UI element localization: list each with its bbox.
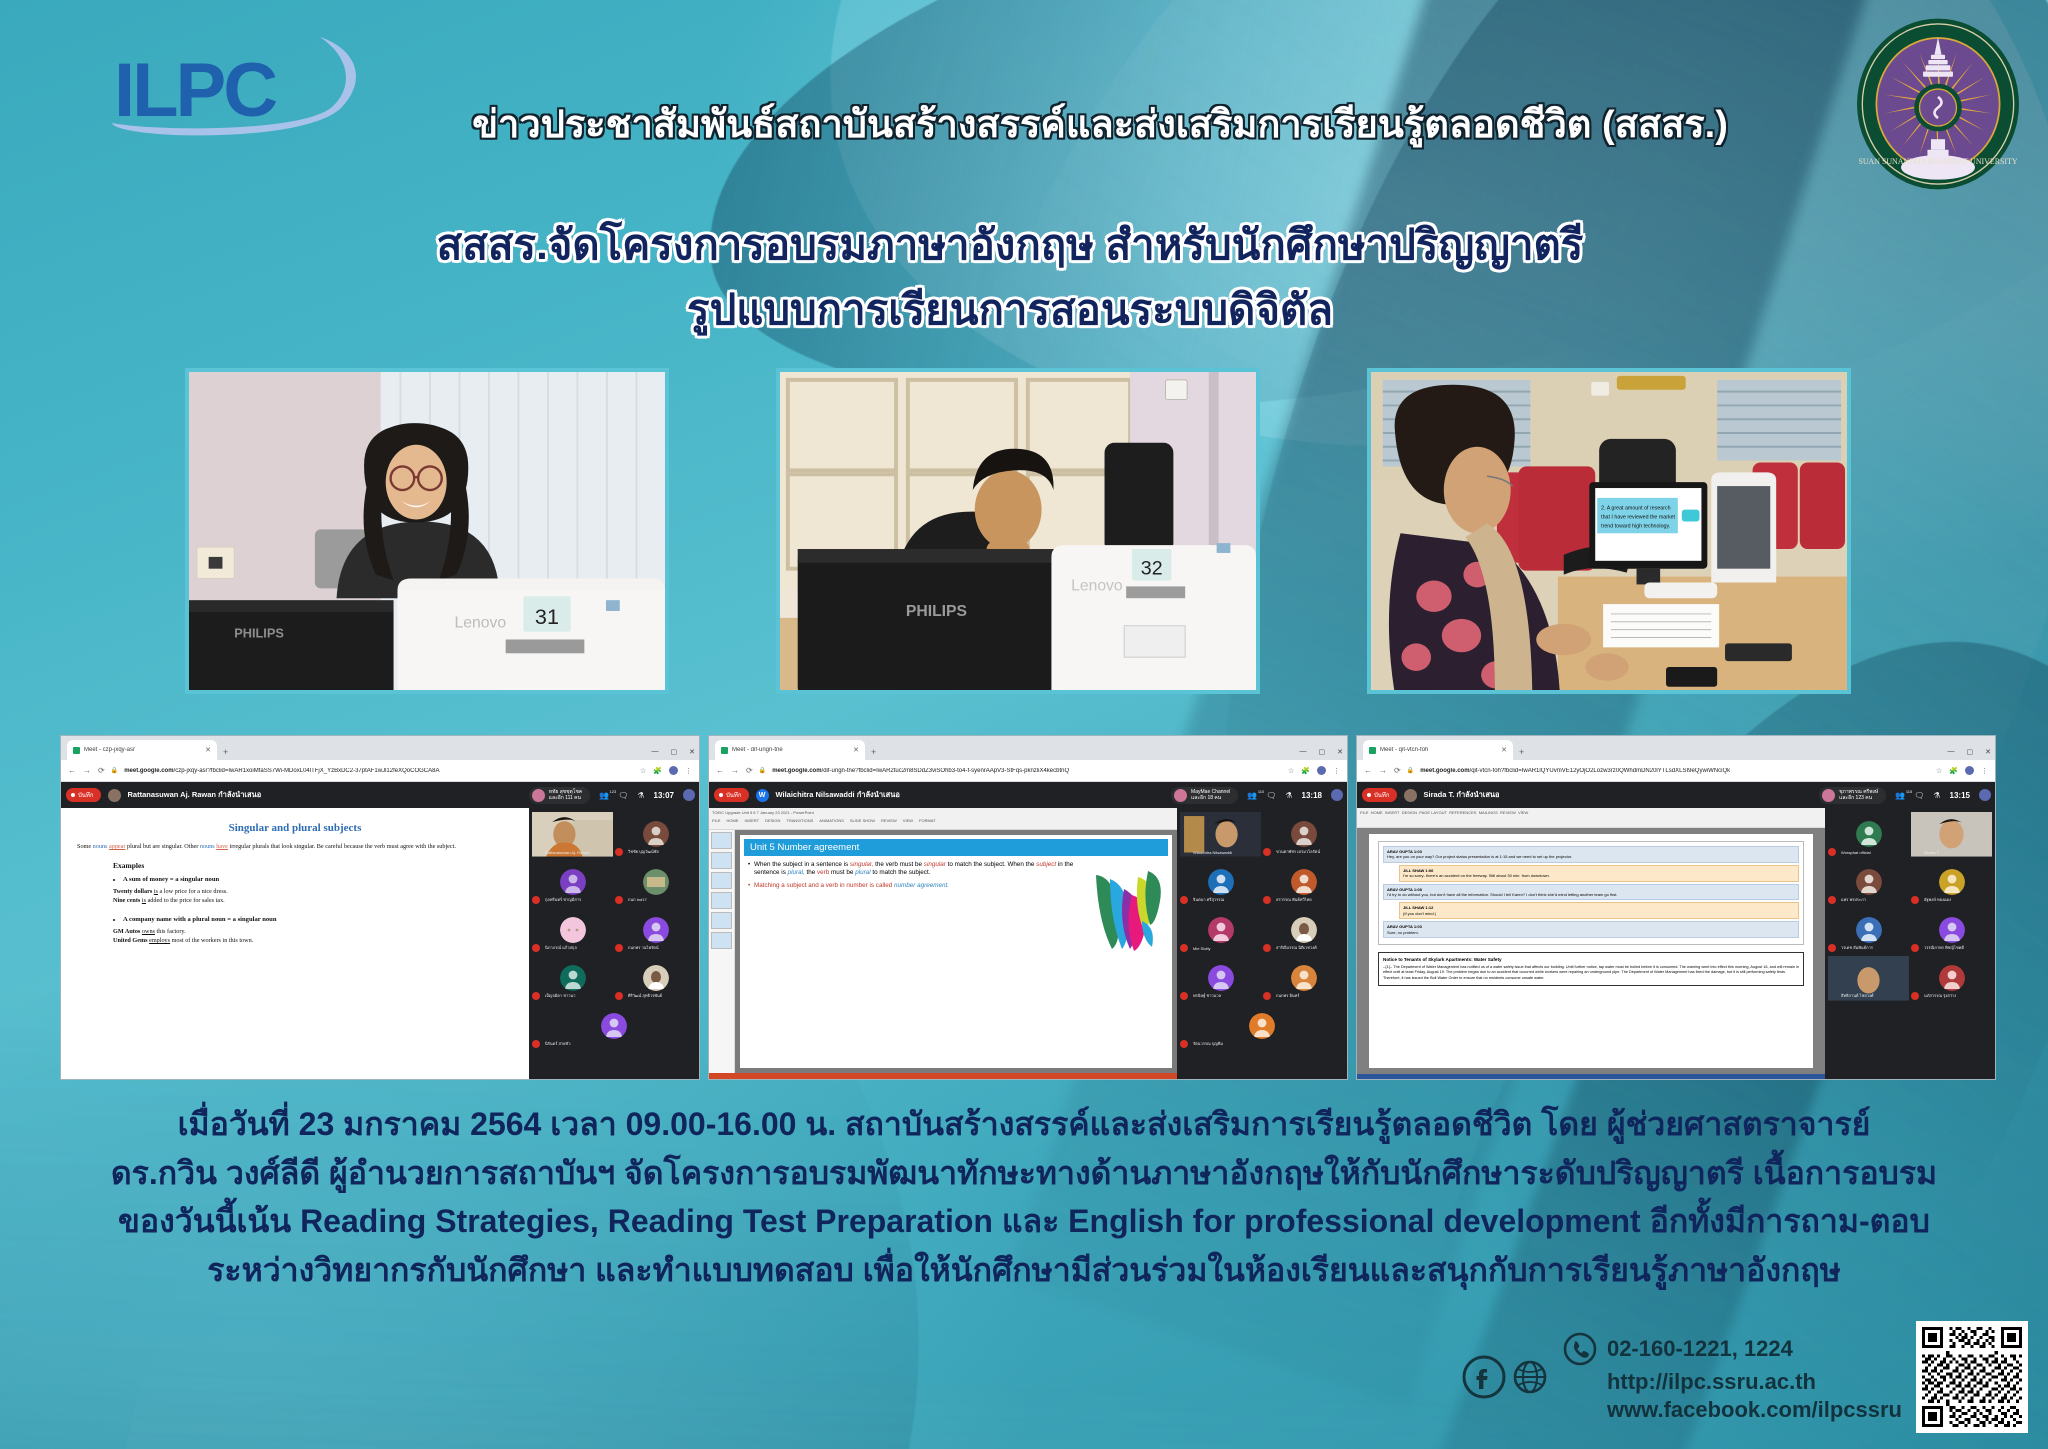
example-bullet: A sum of money = a singular noun	[123, 876, 513, 883]
avatar	[1856, 869, 1882, 895]
user-avatar[interactable]	[683, 789, 695, 801]
avatar	[1939, 869, 1965, 895]
slide-thumbnail[interactable]	[711, 912, 732, 929]
example-bullet: A company name with a plural noun = a si…	[123, 916, 513, 923]
participant-tile[interactable]: สิทธิกานต์ ไชยวงศ์	[1828, 956, 1909, 1000]
close-icon[interactable]: ✕	[205, 746, 211, 754]
participant-tile[interactable]: กนกพร วนไพรัตน์	[615, 908, 696, 952]
mic-off-icon	[615, 992, 623, 1000]
participant-tiles: Woraphat official Sirada T. แพร พรประภา	[1825, 808, 1995, 1080]
meet-clock: 13:07	[654, 791, 674, 800]
chat-bubble: ARAV GUPTA 1:03 Sure, no problem.	[1383, 921, 1799, 938]
mic-off-icon	[615, 896, 623, 904]
slide-canvas: Unit 5 Number agreement When the subject…	[735, 830, 1177, 1073]
people-icon[interactable]: 👥123	[599, 791, 609, 800]
participant-tile[interactable]: Mie Slotty	[1180, 908, 1261, 952]
participant-name: นภัสวรรณ รุ่งสว่าง	[1924, 992, 1991, 999]
avatar	[1856, 917, 1882, 943]
chat-author: ARAV GUPTA 1:03	[1387, 924, 1795, 929]
participant-tile[interactable]: Woraphat official	[1828, 812, 1909, 856]
extension-icon[interactable]: 🧩	[653, 767, 662, 775]
mic-off-icon	[1263, 848, 1271, 856]
user-avatar[interactable]	[1331, 789, 1343, 801]
phone-icon	[1562, 1331, 1598, 1367]
tab-view[interactable]: VIEW	[903, 818, 913, 823]
photo-instructor-meeting-room: 2. A great amount of research that I hav…	[1367, 368, 1851, 694]
participant-tile[interactable]: Sirada T.	[1911, 812, 1992, 856]
avatar	[1208, 869, 1234, 895]
presentation-stage: Singular and plural subjects Some nouns …	[61, 808, 529, 1080]
presenter-avatar	[108, 789, 121, 802]
tab-format[interactable]: FORMAT	[919, 818, 936, 823]
mic-off-icon	[1180, 896, 1188, 904]
minimize-icon[interactable]: —	[1948, 748, 1955, 756]
avatar	[643, 917, 669, 943]
participant-tile[interactable]: Wilaichitra Nilsawaddi	[1180, 812, 1261, 856]
photo-gallery: PHILIPS Lenovo 31	[0, 368, 2048, 696]
minimize-icon[interactable]: —	[652, 748, 659, 756]
window-controls[interactable]: — ▢ ✕	[1300, 748, 1344, 756]
presenter-name: Wilaichitra Nilsawaddi กำลังนำเสนอ	[776, 789, 900, 801]
participant-tile[interactable]: ศิริวัฒน์ สุทธิวรพันธ์	[615, 956, 696, 1000]
svg-text:PHILIPS: PHILIPS	[906, 603, 967, 620]
seal-text-en: SUAN SUNANDHA RAJABHAT UNIVERSITY	[1858, 157, 2017, 166]
photo-2-station-number: 32	[1141, 558, 1163, 580]
people-icon[interactable]: 👥110	[1247, 791, 1257, 800]
menu-icon[interactable]: ⋮	[685, 767, 692, 775]
browser-address-bar[interactable]: ← → ⟳ 🔒 meet.google.com/dif-ungn-tne?fbc…	[709, 760, 1347, 782]
participant-tile[interactable]: สรวรรณ พันธ์ทวีไทย	[1263, 860, 1344, 904]
tab-file[interactable]: FILE	[712, 818, 720, 823]
tab-design[interactable]: DESIGN	[765, 818, 780, 823]
body-line-1: เมื่อวันที่ 23 มกราคม 2564 เวลา 09.00-16…	[62, 1100, 1986, 1149]
forward-icon[interactable]: →	[1379, 766, 1387, 775]
meet-clock: 13:18	[1302, 791, 1322, 800]
nav-icons[interactable]: ← → ⟳	[68, 766, 105, 775]
photo-1-station-number: 31	[535, 604, 559, 629]
ilpc-logo: ILPC	[106, 35, 376, 140]
participant-name: อัฐพงษ์ ทองแดง	[1924, 896, 1991, 903]
lock-icon: 🔒	[111, 767, 118, 774]
avatar	[1249, 1013, 1275, 1039]
word-window: FILE HOME INSERT DESIGN PAGE LAYOUT REFE…	[1357, 808, 1825, 1080]
tab-transitions[interactable]: TRANSITIONS	[786, 818, 813, 823]
photo-student-red-shirt: PHILIPS Lenovo 32	[776, 368, 1260, 694]
svg-text:trend toward high technology.: trend toward high technology.	[1601, 523, 1670, 529]
participant-name: นิรันดร์ สายชัว	[545, 1040, 695, 1047]
avatar	[1291, 869, 1317, 895]
word-ribbon[interactable]: FILE HOME INSERT DESIGN PAGE LAYOUT REFE…	[1357, 808, 1825, 828]
facebook-icon[interactable]	[1462, 1355, 1506, 1399]
notice-body: --[1]-- The Department of Water Manageme…	[1383, 965, 1799, 982]
tab-review[interactable]: REVIEW	[881, 818, 897, 823]
contact-lines: 02-160-1221, 1224 http://ilpc.ssru.ac.th…	[1562, 1331, 1902, 1423]
participant-name: Mie Slotty	[1193, 946, 1260, 951]
channel-count: และอีก 111 คน	[549, 795, 581, 801]
participant-name: นิภาภรณ์ แก้วสกุล	[545, 944, 612, 951]
participant-tile[interactable]: วรเดช สัมพันธ์การ	[1828, 908, 1909, 952]
bookmark-star-icon[interactable]: ☆	[1288, 767, 1294, 775]
mic-off-icon	[532, 1040, 540, 1048]
browser-tab-bar: Meet - czp-jxqy-asr ✕ + — ▢ ✕	[61, 736, 699, 760]
close-window-icon[interactable]: ✕	[689, 748, 695, 756]
maximize-icon[interactable]: ▢	[671, 748, 678, 756]
participant-name: กนก tnd17	[628, 896, 695, 903]
avatar	[643, 869, 669, 895]
url-text[interactable]: meet.google.com/dif-ungn-tne?fbclid=IwAR…	[772, 768, 1282, 774]
slide-intro: Some nouns appear plural but are singula…	[77, 843, 513, 852]
tab-insert[interactable]: INSERT	[744, 818, 759, 823]
mic-off-icon	[1180, 944, 1188, 952]
powerpoint-window: TOEIC Upgrade Unit 5 6 7 January 23 2021…	[709, 808, 1177, 1080]
participant-tile[interactable]: กนก tnd17	[615, 860, 696, 904]
nav-icons[interactable]: ← → ⟳	[716, 766, 753, 775]
slide-thumbnail[interactable]	[711, 892, 732, 909]
participant-name: วิชชัย บุญวัฒน์ชัย	[628, 848, 695, 855]
nav-icons[interactable]: ← → ⟳	[1364, 766, 1401, 775]
mic-off-icon	[615, 848, 623, 856]
ribbon-tabs[interactable]: FILE HOME INSERT DESIGN TRANSITIONS ANIM…	[712, 818, 1174, 823]
meet-screenshot-singular-plural: Meet - czp-jxqy-asr ✕ + — ▢ ✕ ← → ⟳ 🔒 me…	[60, 735, 700, 1080]
mic-off-icon	[615, 944, 623, 952]
body-line-3: ของวันนี้เน้น Reading Strategies, Readin…	[62, 1197, 1986, 1246]
participant-tile[interactable]: กนกพร อินทร์	[1263, 956, 1344, 1000]
participant-tile[interactable]: แพร พรประภา	[1828, 860, 1909, 904]
meet-top-bar: บันทึก Sirada T. กำลังนำเสนอ ชุภาพรรณ ศร…	[1357, 782, 1995, 808]
participant-tile[interactable]: นภัสวรรณ รุ่งสว่าง	[1911, 956, 1992, 1000]
meet-bar-right: ชุภาพรรณ ศรีพงษ์ และอีก 123 คน 👥115 🗨 ⚗ …	[1819, 787, 1991, 804]
participant-tile[interactable]: จินตนา ศรีสุวรรณ	[1180, 860, 1261, 904]
reload-icon[interactable]: ⟳	[98, 766, 105, 775]
avatar	[1939, 917, 1965, 943]
participant-count: 115	[1906, 789, 1912, 794]
bookmark-star-icon[interactable]: ☆	[1936, 767, 1942, 775]
channel-avatar	[1174, 789, 1187, 802]
recording-badge[interactable]: บันทึก	[714, 788, 749, 802]
channel-chip[interactable]: หทัย สุขชุตุโชค และอีก 111 คน	[529, 787, 590, 804]
participant-name: กนกพร อินทร์	[1276, 992, 1343, 999]
tab-title: Meet - czp-jxqy-asr	[84, 747, 201, 753]
channel-text: MayMae Channel และอีก 18 คน	[1191, 789, 1230, 802]
chat-text: Hey, are you on your way? Our project st…	[1387, 854, 1572, 859]
forward-icon[interactable]: →	[731, 766, 739, 775]
qr-code-image	[1922, 1327, 2022, 1427]
participant-tile[interactable]: เบ็ญจมิตา ชาวนา	[532, 956, 613, 1000]
facebook-url[interactable]: www.facebook.com/ilpcssru	[1607, 1397, 1902, 1423]
people-icon[interactable]: 👥115	[1895, 791, 1905, 800]
mic-off-icon	[1180, 992, 1188, 1000]
browser-address-bar[interactable]: ← → ⟳ 🔒 meet.google.com/qit-vtcn-foh?fbc…	[1357, 760, 1995, 782]
avatar	[1208, 965, 1234, 991]
powerpoint-main: Unit 5 Number agreement When the subject…	[709, 830, 1177, 1073]
avatar	[1939, 965, 1965, 991]
lock-icon: 🔒	[1407, 767, 1414, 774]
participant-tile[interactable]: วิชชัย บุญวัฒน์ชัย	[615, 812, 696, 856]
mic-off-icon	[1828, 896, 1836, 904]
phone-number: 02-160-1221, 1224	[1607, 1336, 1793, 1362]
channel-text: ชุภาพรรณ ศรีพงษ์ และอีก 123 คน	[1839, 789, 1878, 802]
channel-chip[interactable]: ชุภาพรรณ ศรีพงษ์ และอีก 123 คน	[1819, 787, 1886, 804]
browser-tab[interactable]: Meet - qit-vtcn-foh ✕	[1363, 740, 1513, 760]
browser-tab-bar: Meet - qit-vtcn-foh ✕ + — ▢ ✕	[1357, 736, 1995, 760]
body-paragraph: เมื่อวันที่ 23 มกราคม 2564 เวลา 09.00-16…	[62, 1100, 1986, 1295]
record-label: บันทึก	[1374, 790, 1390, 800]
maximize-icon[interactable]: ▢	[1319, 748, 1326, 756]
meet-top-bar: บันทึก W Wilaichitra Nilsawaddi กำลังนำเ…	[709, 782, 1347, 808]
subtitle-line-1: สสสร.จัดโครงการอบรมภาษาอังกฤษ สำหรับนักศ…	[230, 218, 1790, 273]
url-text[interactable]: meet.google.com/czp-jxqy-asr?fbclid=IwAR…	[124, 768, 634, 774]
participant-tile[interactable]: ขวนตาพัชร เปรมวไลรัตน์	[1263, 812, 1344, 856]
slide-thumbnail[interactable]	[711, 852, 732, 869]
globe-icon	[1512, 1359, 1548, 1395]
examples-list-2: A company name with a plural noun = a si…	[123, 916, 513, 923]
activities-icon[interactable]: ⚗	[1933, 791, 1940, 800]
channel-avatar	[532, 789, 545, 802]
participant-tiles: Wilaichitra Nilsawaddi ขวนตาพัชร เปรมวไล…	[1177, 808, 1347, 1080]
browser-address-bar[interactable]: ← → ⟳ 🔒 meet.google.com/czp-jxqy-asr?fbc…	[61, 760, 699, 782]
tab-title: Meet - qit-vtcn-foh	[1380, 747, 1497, 753]
new-tab-button[interactable]: +	[1519, 747, 1524, 760]
participant-tile[interactable]: สาริณีบรรณ นิติเวชวงศ์	[1263, 908, 1344, 952]
slide-title: Singular and plural subjects	[77, 822, 513, 834]
reload-icon[interactable]: ⟳	[1394, 766, 1401, 775]
slide-title: Unit 5 Number agreement	[744, 839, 1168, 856]
photo-3-image: 2. A great amount of research that I hav…	[1371, 372, 1847, 693]
browser-tab[interactable]: Meet - czp-jxqy-asr ✕	[67, 740, 217, 760]
colorful-ribbons-icon	[1084, 861, 1168, 951]
phone-line: 02-160-1221, 1224	[1562, 1331, 1902, 1367]
close-icon[interactable]: ✕	[1501, 746, 1507, 754]
presentation-stage: TOEIC Upgrade Unit 5 6 7 January 23 2021…	[709, 808, 1177, 1080]
participant-tile[interactable]: พรนิษฐ์ ชาวนวล	[1180, 956, 1261, 1000]
mic-off-icon	[1263, 944, 1271, 952]
meet-screenshot-gallery: Meet - czp-jxqy-asr ✕ + — ▢ ✕ ← → ⟳ 🔒 me…	[0, 735, 2048, 1083]
bookmark-star-icon[interactable]: ☆	[640, 767, 646, 775]
slide-bullets: When the subject in a sentence is singul…	[744, 861, 1084, 953]
slide-bullet-2: Matching a subject and a verb in number …	[748, 882, 1084, 890]
participant-tile[interactable]: Rattanasuwan Aj. Rawan	[532, 812, 613, 856]
participant-name: ศิริวัฒน์ สุทธิวรพันธ์	[628, 992, 695, 999]
close-icon[interactable]: ✕	[853, 746, 859, 754]
channel-chip[interactable]: MayMae Channel และอีก 18 คน	[1171, 787, 1238, 804]
browser-tab[interactable]: Meet - dif-ungn-tne ✕	[715, 740, 865, 760]
chat-text: I'd try to do without you, but don't hav…	[1387, 892, 1618, 897]
participant-tile[interactable]: นิรันดร์ สายชัว	[532, 1004, 696, 1048]
body-line-4: ระหว่างวิทยากรกับนักศึกษา และทำแบบทดสอบ …	[62, 1246, 1986, 1295]
participant-count: 110	[1258, 789, 1264, 794]
current-slide: Unit 5 Number agreement When the subject…	[740, 835, 1172, 1068]
menu-icon[interactable]: ⋮	[1333, 767, 1340, 775]
notice-title: Notice to Tenants of Skylark Apartments:…	[1383, 957, 1799, 962]
channel-name: MayMae Channel	[1191, 789, 1230, 795]
chat-bubble: JILL SHAW 1:06 I'm so sorry- there's an …	[1399, 865, 1799, 882]
body-line-2: ดร.กวิน วงศ์ลีดี ผู้อำนวยการสถาบันฯ จัดโ…	[62, 1149, 1986, 1198]
activities-icon[interactable]: ⚗	[637, 791, 644, 800]
meet-screenshot-water-safety: Meet - qit-vtcn-foh ✕ + — ▢ ✕ ← → ⟳ 🔒 me…	[1356, 735, 1996, 1080]
participant-count: 123	[610, 789, 617, 794]
svg-text:that I have reviewed the marke: that I have reviewed the market	[1601, 515, 1675, 521]
record-label: บันทึก	[78, 790, 94, 800]
chat-bubble: ARAV GUPTA 1:08 I'd try to do without yo…	[1383, 884, 1799, 901]
omnibar-actions[interactable]: ☆ 🧩 ⋮	[640, 766, 692, 775]
profile-avatar[interactable]	[1965, 766, 1974, 775]
photo-instructor-at-desktop: PHILIPS Lenovo 31	[185, 368, 669, 694]
meet-favicon-icon	[721, 747, 728, 754]
mic-off-icon	[1911, 992, 1919, 1000]
avatar	[1291, 821, 1317, 847]
slide-thumbnail[interactable]	[711, 872, 732, 889]
participant-name: แพร พรประภา	[1841, 896, 1908, 903]
participant-tile[interactable]: กุลพรินทร์ ชาญมีสาร	[532, 860, 613, 904]
tab-home[interactable]: HOME	[726, 818, 738, 823]
tab-slideshow[interactable]: SLIDE SHOW	[850, 818, 875, 823]
close-window-icon[interactable]: ✕	[1337, 748, 1343, 756]
participant-name: วรเดช สัมพันธ์การ	[1841, 944, 1908, 951]
browser-tab-bar: Meet - dif-ungn-tne ✕ + — ▢ ✕	[709, 736, 1347, 760]
website-url[interactable]: http://ilpc.ssru.ac.th	[1607, 1369, 1816, 1395]
participant-name: พรนิษฐ์ ชาวนวล	[1193, 992, 1260, 999]
slide-thumbnail[interactable]	[711, 932, 732, 949]
forward-icon[interactable]: →	[83, 766, 91, 775]
chat-bubble: JILL SHAW 1:12 (If you don't mind.)	[1399, 902, 1799, 919]
window-controls[interactable]: — ▢ ✕	[652, 748, 696, 756]
slide-thumbnail[interactable]	[711, 832, 732, 849]
facebook-line[interactable]: www.facebook.com/ilpcssru	[1562, 1397, 1902, 1423]
reload-icon[interactable]: ⟳	[746, 766, 753, 775]
chat-text: I'm so sorry- there's an accident on the…	[1403, 873, 1550, 878]
meet-body: TOEIC Upgrade Unit 5 6 7 January 23 2021…	[709, 808, 1347, 1080]
omnibar-actions[interactable]: ☆ 🧩 ⋮	[1288, 766, 1340, 775]
chat-text: (If you don't mind.)	[1403, 911, 1436, 916]
document-page: ARAV GUPTA 1:03 Hey, are you on your way…	[1369, 834, 1813, 1068]
meet-body: Singular and plural subjects Some nouns …	[61, 808, 699, 1080]
recording-badge[interactable]: บันทึก	[66, 788, 101, 802]
profile-avatar[interactable]	[669, 766, 678, 775]
channel-count: และอีก 18 คน	[1191, 795, 1221, 801]
footer-icon-stack	[1462, 1355, 1548, 1399]
new-tab-button[interactable]: +	[223, 747, 228, 760]
url-text[interactable]: meet.google.com/qit-vtcn-foh?fbclid=IwAR…	[1420, 768, 1930, 774]
participant-name: สิทธิกานต์ ไชยวงศ์	[1841, 992, 1908, 999]
back-icon[interactable]: ←	[1364, 766, 1372, 775]
back-icon[interactable]: ←	[68, 766, 76, 775]
word-tab-file[interactable]: FILE HOME INSERT DESIGN PAGE LAYOUT REFE…	[1360, 810, 1528, 815]
photo-1-image: PHILIPS Lenovo 31	[189, 372, 665, 693]
powerpoint-ribbon[interactable]: TOEIC Upgrade Unit 5 6 7 January 23 2021…	[709, 808, 1177, 830]
slide-document: Singular and plural subjects Some nouns …	[61, 808, 529, 945]
qr-code[interactable]	[1916, 1321, 2028, 1433]
extension-icon[interactable]: 🧩	[1301, 767, 1310, 775]
participant-tiles: Rattanasuwan Aj. Rawan วิชชัย บุญวัฒน์ชั…	[529, 808, 699, 1080]
word-status-bar	[1357, 1074, 1825, 1080]
recording-badge[interactable]: บันทึก	[1362, 788, 1397, 802]
chat-icon[interactable]: 🗨	[1914, 791, 1924, 800]
avatar	[1291, 965, 1317, 991]
participant-name: Woraphat official	[1841, 850, 1908, 855]
lock-icon: 🔒	[759, 767, 766, 774]
channel-name: ชุภาพรรณ ศรีพงษ์	[1839, 789, 1878, 795]
svg-text:Lenovo: Lenovo	[455, 615, 507, 632]
extension-icon[interactable]: 🧩	[1949, 767, 1958, 775]
mic-off-icon	[1263, 992, 1271, 1000]
example-lines: Twenty dollars is a low price for a nice…	[113, 887, 513, 906]
omnibar-actions[interactable]: ☆ 🧩 ⋮	[1936, 766, 1988, 775]
slide-thumbnail-pane[interactable]	[709, 830, 735, 1073]
mic-off-icon	[1828, 944, 1836, 952]
participant-name: วรรณิภาพร พิชญ์โชคดี	[1924, 944, 1991, 951]
profile-avatar[interactable]	[1317, 766, 1326, 775]
svg-text:PHILIPS: PHILIPS	[234, 626, 284, 641]
participant-name: Rattanasuwan Aj. Rawan	[545, 850, 612, 855]
participant-name: สาริณีบรรณ นิติเวชวงศ์	[1276, 944, 1343, 951]
meet-bar-right: MayMae Channel และอีก 18 คน 👥110 🗨 ⚗ 13:…	[1171, 787, 1343, 804]
presenter-name: Sirada T. กำลังนำเสนอ	[1424, 789, 1500, 801]
channel-avatar	[1822, 789, 1835, 802]
avatar	[560, 965, 586, 991]
notice-section: Notice to Tenants of Skylark Apartments:…	[1378, 952, 1804, 987]
subtitle-line-2: รูปแบบการเรียนการสอนระบบดิจิตัล	[230, 283, 1790, 338]
activities-icon[interactable]: ⚗	[1285, 791, 1292, 800]
participant-name: กุลพรินทร์ ชาญมีสาร	[545, 896, 612, 903]
channel-name: หทัย สุขชุตุโชค	[549, 789, 582, 795]
user-avatar[interactable]	[1979, 789, 1991, 801]
participant-tile[interactable]: อัฐพงษ์ ทองแดง	[1911, 860, 1992, 904]
chat-icon[interactable]: 🗨	[618, 791, 628, 800]
mic-off-icon	[532, 992, 540, 1000]
chat-bubble: ARAV GUPTA 1:03 Hey, are you on your way…	[1383, 846, 1799, 863]
mic-off-icon	[1828, 848, 1836, 856]
channel-count: และอีก 123 คน	[1839, 795, 1872, 801]
presentation-stage: FILE HOME INSERT DESIGN PAGE LAYOUT REFE…	[1357, 808, 1825, 1080]
record-dot-icon	[1367, 793, 1371, 797]
ilpc-logo-text: ILPC	[114, 53, 275, 129]
poster-root: ILPC	[0, 0, 2048, 1449]
close-window-icon[interactable]: ✕	[1985, 748, 1991, 756]
meet-clock: 13:15	[1950, 791, 1970, 800]
participant-name: ขวนตาพัชร เปรมวไลรัตน์	[1276, 848, 1343, 855]
record-dot-icon	[71, 793, 75, 797]
examples-list: A sum of money = a singular noun	[123, 876, 513, 883]
ssru-seal: SUAN SUNANDHA RAJABHAT UNIVERSITY	[1850, 16, 2026, 192]
new-tab-button[interactable]: +	[871, 747, 876, 760]
presenter-avatar	[1404, 789, 1417, 802]
website-line[interactable]: http://ilpc.ssru.ac.th	[1562, 1369, 1902, 1395]
presenter-name: Rattanasuwan Aj. Rawan กำลังนำเสนอ	[128, 789, 262, 801]
avatar	[560, 917, 586, 943]
photo-2-image: PHILIPS Lenovo 32	[780, 372, 1256, 693]
tab-animations[interactable]: ANIMATIONS	[819, 818, 844, 823]
mic-off-icon	[1911, 944, 1919, 952]
footer-contacts: 02-160-1221, 1224 http://ilpc.ssru.ac.th…	[1462, 1319, 2028, 1435]
meet-favicon-icon	[1369, 747, 1376, 754]
menu-icon[interactable]: ⋮	[1981, 767, 1988, 775]
powerpoint-status-bar	[709, 1073, 1177, 1080]
participant-tile[interactable]: รัตนวรรณ บุญทิม	[1180, 1004, 1344, 1048]
back-icon[interactable]: ←	[716, 766, 724, 775]
avatar	[1856, 821, 1882, 847]
minimize-icon[interactable]: —	[1300, 748, 1307, 756]
participant-tile[interactable]: นิภาภรณ์ แก้วสกุล	[532, 908, 613, 952]
document-page-area: ARAV GUPTA 1:03 Hey, are you on your way…	[1357, 828, 1825, 1074]
chat-icon[interactable]: 🗨	[1266, 791, 1276, 800]
participant-tile[interactable]: วรรณิภาพร พิชญ์โชคดี	[1911, 908, 1992, 952]
tab-title: Meet - dif-ungn-tne	[732, 747, 849, 753]
window-controls[interactable]: — ▢ ✕	[1948, 748, 1992, 756]
avatar	[1291, 917, 1317, 943]
maximize-icon[interactable]: ▢	[1967, 748, 1974, 756]
participant-name: สรวรรณ พันธ์ทวีไทย	[1276, 896, 1343, 903]
participant-name: รัตนวรรณ บุญทิม	[1193, 1040, 1343, 1047]
